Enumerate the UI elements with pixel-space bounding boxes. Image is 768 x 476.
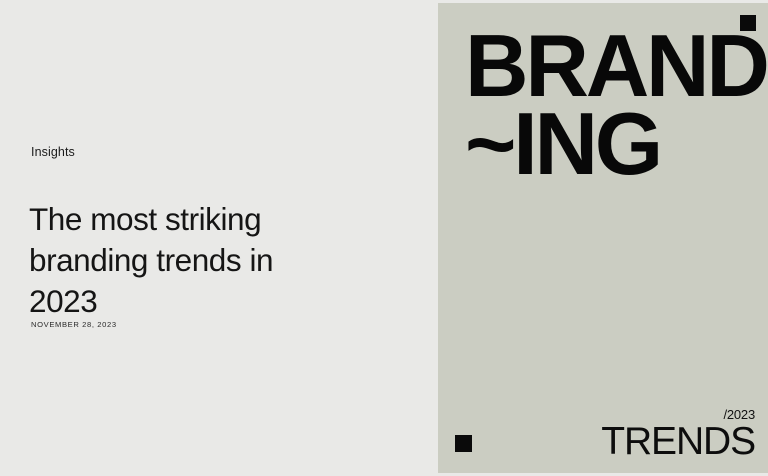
- poster-panel: BRAND ~ING /2023 TRENDS: [438, 3, 768, 473]
- square-mark-bottom-left-icon: [455, 435, 472, 452]
- poster-title: BRAND ~ING: [465, 27, 767, 183]
- article-category-label[interactable]: Insights: [31, 144, 75, 160]
- article-text-column: Insights The most striking branding tren…: [0, 0, 438, 476]
- poster-word-label: TRENDS: [601, 423, 755, 461]
- article-publish-date: NOVEMBER 28, 2023: [31, 319, 117, 330]
- poster-title-line-2: ~ING: [465, 105, 767, 183]
- headline-line-2: branding trends in: [29, 240, 369, 281]
- headline-line-3: 2023: [29, 281, 369, 322]
- headline-line-1: The most striking: [29, 199, 369, 240]
- article-headline: The most striking branding trends in 202…: [29, 199, 369, 322]
- poster-footer: /2023 TRENDS: [601, 407, 755, 461]
- article-preview-slide: Insights The most striking branding tren…: [0, 0, 768, 476]
